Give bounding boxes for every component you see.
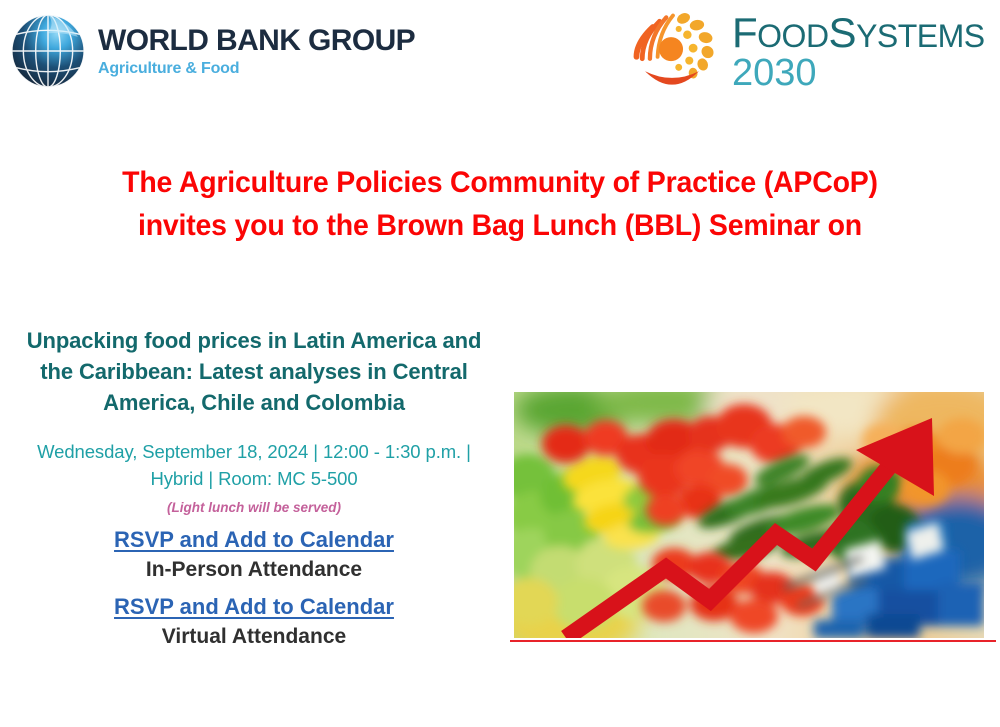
page-header: WORLD BANK GROUP Agriculture & Food: [0, 0, 1000, 112]
fs-ood: OOD: [757, 18, 828, 54]
world-bank-group-logo: WORLD BANK GROUP Agriculture & Food: [4, 6, 415, 96]
virtual-attendance-label: Virtual Attendance: [8, 622, 500, 651]
event-details-column: Unpacking food prices in Latin America a…: [8, 325, 500, 651]
world-bank-title: WORLD BANK GROUP: [98, 26, 415, 56]
fs-ystems: YSTEMS: [856, 18, 985, 54]
event-datetime-location: Wednesday, September 18, 2024 | 12:00 - …: [8, 438, 500, 492]
food-systems-name: FOODSYSTEMS: [732, 13, 985, 53]
invitation-line-1: The Agriculture Policies Community of Pr…: [18, 161, 983, 204]
invitation-line-2: invites you to the Brown Bag Lunch (BBL)…: [18, 204, 983, 247]
rsvp-link-virtual[interactable]: RSVP and Add to Calendar: [8, 593, 500, 621]
globe-icon: [4, 6, 92, 96]
food-systems-year: 2030: [732, 55, 985, 91]
world-bank-subtitle: Agriculture & Food: [98, 61, 415, 77]
fs-s: S: [829, 9, 857, 56]
in-person-attendance-label: In-Person Attendance: [8, 555, 500, 584]
world-bank-wordmark: WORLD BANK GROUP Agriculture & Food: [98, 26, 415, 77]
rsvp-link-in-person[interactable]: RSVP and Add to Calendar: [8, 526, 500, 554]
food-systems-wordmark: FOODSYSTEMS 2030: [732, 13, 985, 92]
sun-circle-icon: [624, 4, 720, 100]
food-systems-2030-logo: FOODSYSTEMS 2030: [624, 4, 985, 100]
invitation-heading: The Agriculture Policies Community of Pr…: [18, 161, 983, 247]
lunch-note: (Light lunch will be served): [8, 499, 500, 517]
seminar-title: Unpacking food prices in Latin America a…: [8, 325, 500, 418]
fs-f: F: [732, 9, 757, 56]
photo-bottom-rule: [510, 640, 996, 642]
vegetable-market-photo: [514, 392, 984, 638]
